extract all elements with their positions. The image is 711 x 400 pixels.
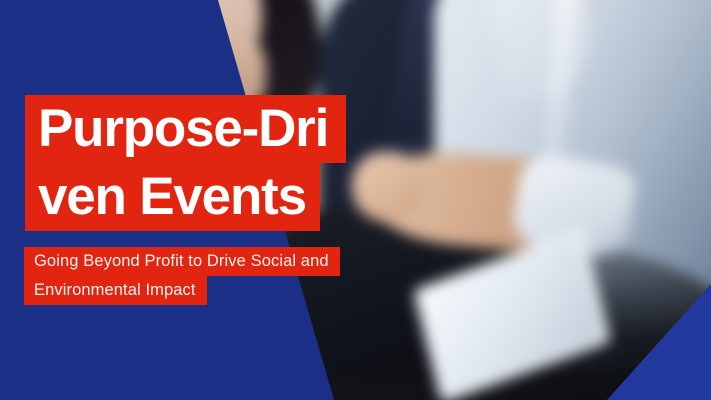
slide-title-line-1: Purpose-Dri [25, 95, 346, 163]
slide-subtitle: Going Beyond Profit to Drive Social and … [24, 247, 340, 305]
photo-person-right-hand [352, 152, 426, 222]
slide-subtitle-line-2: Environmental Impact [24, 276, 207, 305]
slide-subtitle-line-1: Going Beyond Profit to Drive Social and [24, 247, 340, 276]
presentation-slide: Purpose-Dri ven Events Going Beyond Prof… [0, 0, 711, 400]
slide-title: Purpose-Dri ven Events [25, 95, 346, 231]
slide-title-line-2: ven Events [25, 163, 320, 231]
